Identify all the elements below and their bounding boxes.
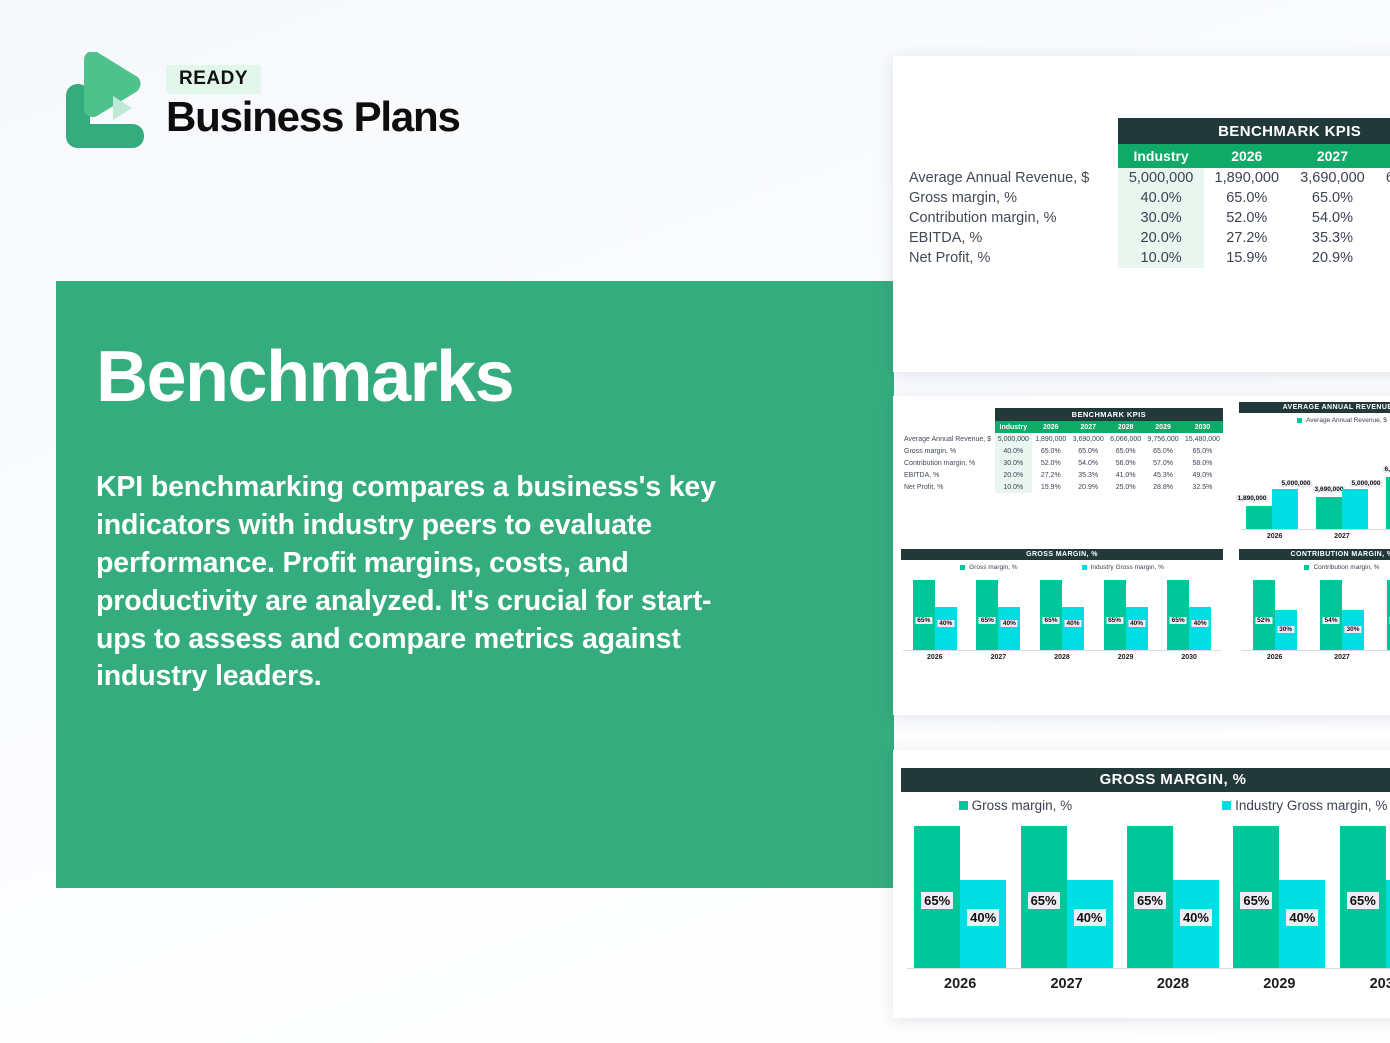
chart-legend: Gross margin, % Industry Gross margin, % xyxy=(893,560,1231,574)
cell-2027: 3,690,000 xyxy=(1290,168,1376,188)
table-banner: BENCHMARK KPIS xyxy=(1118,118,1390,144)
cell-2026: 27.2% xyxy=(1204,228,1290,248)
table-row: EBITDA, % 20.0% 27.2% 35.3% 41.0% 45.3% … xyxy=(901,469,1223,481)
cell-2030: 15,480,000 xyxy=(1182,433,1223,445)
bar-value-label: 52% xyxy=(1255,617,1272,624)
bar-value-label: 40% xyxy=(1001,620,1018,627)
bar-industry: 40% xyxy=(1067,880,1113,968)
bar-value-label: 65% xyxy=(921,892,953,909)
bar-company: 65% xyxy=(1104,580,1126,650)
cell-2026: 27.2% xyxy=(1032,469,1069,481)
chart-legend: Average Annual Revenue, $ xyxy=(1231,413,1390,427)
cell-2027: 54.0% xyxy=(1290,208,1376,228)
cell-2026: 1,890,000 xyxy=(1032,433,1069,445)
bar-industry: 40% xyxy=(1062,607,1084,650)
chart-legend: Contribution margin, % xyxy=(1231,560,1390,574)
bar-company: 65% xyxy=(976,580,998,650)
row-label: Gross margin, % xyxy=(901,188,1118,208)
table-row: Average Annual Revenue, $ 5,000,000 1,89… xyxy=(901,433,1223,445)
bar-company: 65% xyxy=(1021,826,1067,968)
contribution-margin-chart: CONTRIBUTION MARGIN, % Contribution marg… xyxy=(1231,543,1390,664)
bar-value-label: 1,890,000 xyxy=(1236,495,1269,502)
table-row: Gross margin, % 40.0% 65.0% 65.0% 65.0% xyxy=(901,188,1390,208)
brand-badge: READY xyxy=(166,65,261,94)
table-banner: BENCHMARK KPIS xyxy=(995,408,1223,421)
table-header-row: Industry 2026 2027 2028 xyxy=(901,144,1390,168)
bar-company: 65% xyxy=(1040,580,1062,650)
bar-industry: 40% xyxy=(998,607,1020,650)
bar-value-label: 65% xyxy=(1042,617,1059,624)
chart-title: AVERAGE ANNUAL REVENUE, $ xyxy=(1239,402,1390,413)
bar-company: 6,066,000 xyxy=(1386,477,1390,529)
cell-2028: 25.0% xyxy=(1107,481,1144,493)
x-tick-label: 2030 xyxy=(1333,969,1390,998)
chart-plot-area: 1,890,000 5,000,000 3,690,000 5,000,000 xyxy=(1237,429,1390,529)
average-annual-revenue-chart: AVERAGE ANNUAL REVENUE, $ Average Annual… xyxy=(1231,396,1390,543)
bar-company: 52% xyxy=(1253,580,1275,650)
cell-industry: 5,000,000 xyxy=(1118,168,1204,188)
cell-industry: 20.0% xyxy=(1118,228,1204,248)
x-tick-label: 2027 xyxy=(1014,969,1119,998)
page-title: Benchmarks xyxy=(96,341,894,413)
legend-swatch-icon xyxy=(959,801,968,810)
cell-industry: 30.0% xyxy=(995,457,1032,469)
cell-2028: 6,066,000 xyxy=(1375,168,1390,188)
bar-group: 1,890,000 5,000,000 xyxy=(1246,489,1298,529)
cell-2026: 52.0% xyxy=(1204,208,1290,228)
play-triangle-logo-icon xyxy=(56,52,150,152)
legend-swatch-icon xyxy=(1297,418,1302,423)
bar-value-label: 30% xyxy=(1277,626,1294,633)
intro-panel: Benchmarks KPI benchmarking compares a b… xyxy=(56,281,894,888)
table-banner-row: BENCHMARK KPIS xyxy=(901,408,1223,421)
bar-value-label: 40% xyxy=(967,909,999,926)
bar-value-label: 65% xyxy=(1106,617,1123,624)
cell-2028: 56.0% xyxy=(1107,457,1144,469)
column-header-2028: 2028 xyxy=(1107,421,1144,433)
row-label: Net Profit, % xyxy=(901,481,995,493)
brand-name: Business Plans xyxy=(166,96,460,139)
x-tick-label: 2026 xyxy=(927,651,943,664)
bar-company: 1,890,000 xyxy=(1246,506,1272,529)
x-tick-label: 2027 xyxy=(1334,651,1350,664)
cell-2028: 41.0% xyxy=(1375,228,1390,248)
cell-industry: 10.0% xyxy=(1118,248,1204,268)
x-tick-label: 2028 xyxy=(1054,651,1070,664)
x-tick-label: 2026 xyxy=(1267,651,1283,664)
legend-swatch-icon xyxy=(1082,565,1087,570)
bar-group: 65% 40% xyxy=(914,826,1006,968)
cell-2026: 65.0% xyxy=(1204,188,1290,208)
table-banner-row: BENCHMARK KPIS xyxy=(901,118,1390,144)
bar-value-label: 65% xyxy=(1134,892,1166,909)
column-header-2026: 2026 xyxy=(1204,144,1290,168)
dashboard-preview-card: BENCHMARK KPIS Industry 2026 2027 2028 2… xyxy=(893,396,1390,715)
brand-logo[interactable]: READY Business Plans xyxy=(56,52,460,152)
cell-2028: 65.0% xyxy=(1107,445,1144,457)
chart-plot-area: 52% 30% 54% 30% xyxy=(1241,576,1390,650)
x-tick-label: 2029 xyxy=(1118,651,1134,664)
legend-item-company: Average Annual Revenue, $ xyxy=(1297,417,1387,424)
bar-industry: 40% xyxy=(1173,880,1219,968)
cell-2027: 35.3% xyxy=(1290,228,1376,248)
bar-company: 3,690,000 xyxy=(1316,497,1342,529)
bar-industry: 40% xyxy=(1279,880,1325,968)
bar-company: 65% xyxy=(1127,826,1173,968)
gross-margin-chart-card: GROSS MARGIN, % Gross margin, % Industry… xyxy=(893,750,1390,1018)
column-header-industry: Industry xyxy=(995,421,1032,433)
cell-2026: 1,890,000 xyxy=(1204,168,1290,188)
bar-value-label: 65% xyxy=(979,617,996,624)
bar-industry: 5,000,000 xyxy=(1272,489,1298,529)
chart-title: CONTRIBUTION MARGIN, % xyxy=(1239,549,1390,560)
cell-industry: 40.0% xyxy=(1118,188,1204,208)
legend-label: Industry Gross margin, % xyxy=(1235,798,1387,813)
bar-group: 54% 30% xyxy=(1320,580,1364,650)
bar-company: 65% xyxy=(914,826,960,968)
row-label: Gross margin, % xyxy=(901,445,995,457)
row-label: Net Profit, % xyxy=(901,248,1118,268)
benchmark-kpis-table: BENCHMARK KPIS Industry 2026 2027 2028 A… xyxy=(901,118,1390,268)
column-header-industry: Industry xyxy=(1118,144,1204,168)
cell-2029: 57.0% xyxy=(1144,457,1181,469)
x-tick-label: 2027 xyxy=(991,651,1007,664)
table-row: Contribution margin, % 30.0% 52.0% 54.0%… xyxy=(901,208,1390,228)
cell-2030: 58.0% xyxy=(1182,457,1223,469)
chart-plot-area: 65% 40% 65% 40% 65% 40% xyxy=(907,826,1390,968)
bar-group: 65% 40% xyxy=(1021,826,1113,968)
bar-value-label: 40% xyxy=(1286,909,1318,926)
cell-2030: 65.0% xyxy=(1182,445,1223,457)
legend-swatch-icon xyxy=(1304,565,1309,570)
legend-label: Industry Gross margin, % xyxy=(1091,564,1164,571)
legend-item-company: Contribution margin, % xyxy=(1304,564,1379,571)
row-label: EBITDA, % xyxy=(901,228,1118,248)
bar-value-label: 54% xyxy=(1322,617,1339,624)
x-tick-label: 2026 xyxy=(908,969,1013,998)
benchmark-kpis-table-mini: BENCHMARK KPIS Industry 2026 2027 2028 2… xyxy=(901,408,1223,493)
cell-2030: 32.5% xyxy=(1182,481,1223,493)
cell-2027: 20.9% xyxy=(1069,481,1106,493)
bar-value-label: 30% xyxy=(1344,626,1361,633)
bar-industry: 30% xyxy=(1275,610,1297,650)
legend-label: Contribution margin, % xyxy=(1313,564,1379,571)
cell-2027: 20.9% xyxy=(1290,248,1376,268)
bar-group: 65% 40% xyxy=(976,580,1020,650)
legend-swatch-icon xyxy=(960,565,965,570)
dashboard-top-row: BENCHMARK KPIS Industry 2026 2027 2028 2… xyxy=(893,396,1390,543)
legend-item-industry: Industry Gross margin, % xyxy=(1082,564,1164,571)
chart-x-axis: 2026 2027 2028 xyxy=(1241,650,1390,664)
chart-plot-area: 65% 40% 65% 40% xyxy=(903,576,1221,650)
cell-2029: 9,756,000 xyxy=(1144,433,1181,445)
bar-industry: 40% xyxy=(1386,880,1390,968)
cell-2026: 52.0% xyxy=(1032,457,1069,469)
cell-2027: 35.3% xyxy=(1069,469,1106,481)
cell-2028: 56.0% xyxy=(1375,208,1390,228)
bar-value-label: 6,066,000 xyxy=(1383,466,1390,473)
table-row: Gross margin, % 40.0% 65.0% 65.0% 65.0% … xyxy=(901,445,1223,457)
bar-company: 65% xyxy=(913,580,935,650)
bar-industry: 5,000,000 xyxy=(1342,489,1368,529)
cell-2026: 65.0% xyxy=(1032,445,1069,457)
cell-2026: 15.9% xyxy=(1032,481,1069,493)
cell-industry: 5,000,000 xyxy=(995,433,1032,445)
table-row: Contribution margin, % 30.0% 52.0% 54.0%… xyxy=(901,457,1223,469)
mini-kpi-table-panel: BENCHMARK KPIS Industry 2026 2027 2028 2… xyxy=(893,396,1231,543)
x-tick-label: 2027 xyxy=(1334,530,1350,543)
bar-value-label: 40% xyxy=(937,620,954,627)
x-tick-label: 2030 xyxy=(1181,651,1197,664)
bar-group: 65% 40% xyxy=(1167,580,1211,650)
bar-group: 65% 40% xyxy=(1233,826,1325,968)
cell-industry: 30.0% xyxy=(1118,208,1204,228)
brand-wordmark: READY Business Plans xyxy=(166,65,460,139)
page-description: KPI benchmarking compares a business's k… xyxy=(96,469,756,696)
bar-value-label: 65% xyxy=(1240,892,1272,909)
bar-company: 54% xyxy=(1320,580,1342,650)
bar-value-label: 40% xyxy=(1064,620,1081,627)
cell-2027: 65.0% xyxy=(1069,445,1106,457)
bar-value-label: 65% xyxy=(915,617,932,624)
bar-group: 65% 40% xyxy=(1040,580,1084,650)
cell-2028: 41.0% xyxy=(1107,469,1144,481)
chart-title: GROSS MARGIN, % xyxy=(901,768,1390,792)
cell-industry: 40.0% xyxy=(995,445,1032,457)
bar-value-label: 65% xyxy=(1347,892,1379,909)
cell-2029: 45.3% xyxy=(1144,469,1181,481)
bar-value-label: 40% xyxy=(1192,620,1209,627)
cell-2028: 65.0% xyxy=(1375,188,1390,208)
bar-group: 52% 30% xyxy=(1253,580,1297,650)
table-header-row: Industry 2026 2027 2028 2029 2030 xyxy=(901,421,1223,433)
gross-margin-chart-small: GROSS MARGIN, % Gross margin, % Industry… xyxy=(893,543,1231,664)
kpi-table-card: BENCHMARK KPIS Industry 2026 2027 2028 A… xyxy=(893,56,1390,372)
row-label: Average Annual Revenue, $ xyxy=(901,433,995,445)
legend-label: Gross margin, % xyxy=(969,564,1017,571)
bar-group: 65% 40% xyxy=(1340,826,1390,968)
column-header-2026: 2026 xyxy=(1032,421,1069,433)
dashboard-bottom-row: GROSS MARGIN, % Gross margin, % Industry… xyxy=(893,543,1390,664)
bar-group: 65% 40% xyxy=(913,580,957,650)
chart-title: GROSS MARGIN, % xyxy=(901,549,1223,560)
bar-value-label: 40% xyxy=(1074,909,1106,926)
bar-industry: 40% xyxy=(960,880,1006,968)
bar-industry: 40% xyxy=(1126,607,1148,650)
cell-2027: 54.0% xyxy=(1069,457,1106,469)
column-header-2027: 2027 xyxy=(1290,144,1376,168)
cell-2027: 65.0% xyxy=(1290,188,1376,208)
legend-item-company: Gross margin, % xyxy=(959,798,1073,813)
bar-group: 65% 40% xyxy=(1127,826,1219,968)
bar-company: 65% xyxy=(1233,826,1279,968)
table-row: Average Annual Revenue, $ 5,000,000 1,89… xyxy=(901,168,1390,188)
cell-industry: 10.0% xyxy=(995,481,1032,493)
legend-item-company: Gross margin, % xyxy=(960,564,1017,571)
row-label: Contribution margin, % xyxy=(901,208,1118,228)
chart-x-axis: 2026 2027 2028 xyxy=(1241,529,1390,543)
slide-canvas: READY Business Plans Benchmarks KPI benc… xyxy=(0,0,1390,1043)
row-label: Average Annual Revenue, $ xyxy=(901,168,1118,188)
bar-industry: 40% xyxy=(1189,607,1211,650)
column-header-2028: 2028 xyxy=(1375,144,1390,168)
bar-value-label: 65% xyxy=(1028,892,1060,909)
cell-2029: 28.8% xyxy=(1144,481,1181,493)
cell-industry: 20.0% xyxy=(995,469,1032,481)
bar-value-label: 65% xyxy=(1170,617,1187,624)
column-header-2027: 2027 xyxy=(1069,421,1106,433)
x-tick-label: 2028 xyxy=(1120,969,1225,998)
bar-value-label: 40% xyxy=(1128,620,1145,627)
cell-2028: 25.0% xyxy=(1375,248,1390,268)
bar-company: 65% xyxy=(1340,826,1386,968)
cell-2026: 15.9% xyxy=(1204,248,1290,268)
table-row: EBITDA, % 20.0% 27.2% 35.3% 41.0% xyxy=(901,228,1390,248)
row-label: EBITDA, % xyxy=(901,469,995,481)
column-header-2030: 2030 xyxy=(1182,421,1223,433)
bar-group: 3,690,000 5,000,000 xyxy=(1316,489,1368,529)
bar-company: 65% xyxy=(1167,580,1189,650)
x-tick-label: 2029 xyxy=(1227,969,1332,998)
cell-2027: 3,690,000 xyxy=(1069,433,1106,445)
bar-industry: 30% xyxy=(1342,610,1364,650)
chart-x-axis: 2026 2027 2028 2029 2030 xyxy=(903,650,1221,664)
legend-swatch-icon xyxy=(1222,801,1231,810)
column-header-2029: 2029 xyxy=(1144,421,1181,433)
chart-legend: Gross margin, % Industry Gross margin, % xyxy=(893,792,1390,818)
table-row: Net Profit, % 10.0% 15.9% 20.9% 25.0% 28… xyxy=(901,481,1223,493)
cell-2028: 6,066,000 xyxy=(1107,433,1144,445)
cell-2029: 65.0% xyxy=(1144,445,1181,457)
bar-group: 6,066,000 xyxy=(1386,477,1390,529)
table-row: Net Profit, % 10.0% 15.9% 20.9% 25.0% xyxy=(901,248,1390,268)
bar-value-label: 40% xyxy=(1180,909,1212,926)
row-label: Contribution margin, % xyxy=(901,457,995,469)
legend-label: Average Annual Revenue, $ xyxy=(1306,417,1387,424)
legend-item-industry: Industry Gross margin, % xyxy=(1222,798,1387,813)
bar-value-label: 5,000,000 xyxy=(1280,480,1313,487)
bar-group: 65% 40% xyxy=(1104,580,1148,650)
x-tick-label: 2026 xyxy=(1267,530,1283,543)
bar-value-label: 3,690,000 xyxy=(1313,486,1346,493)
bar-industry: 40% xyxy=(935,607,957,650)
chart-x-axis: 2026 2027 2028 2029 2030 xyxy=(907,968,1390,998)
cell-2030: 49.0% xyxy=(1182,469,1223,481)
bar-value-label: 5,000,000 xyxy=(1350,480,1383,487)
legend-label: Gross margin, % xyxy=(972,798,1073,813)
